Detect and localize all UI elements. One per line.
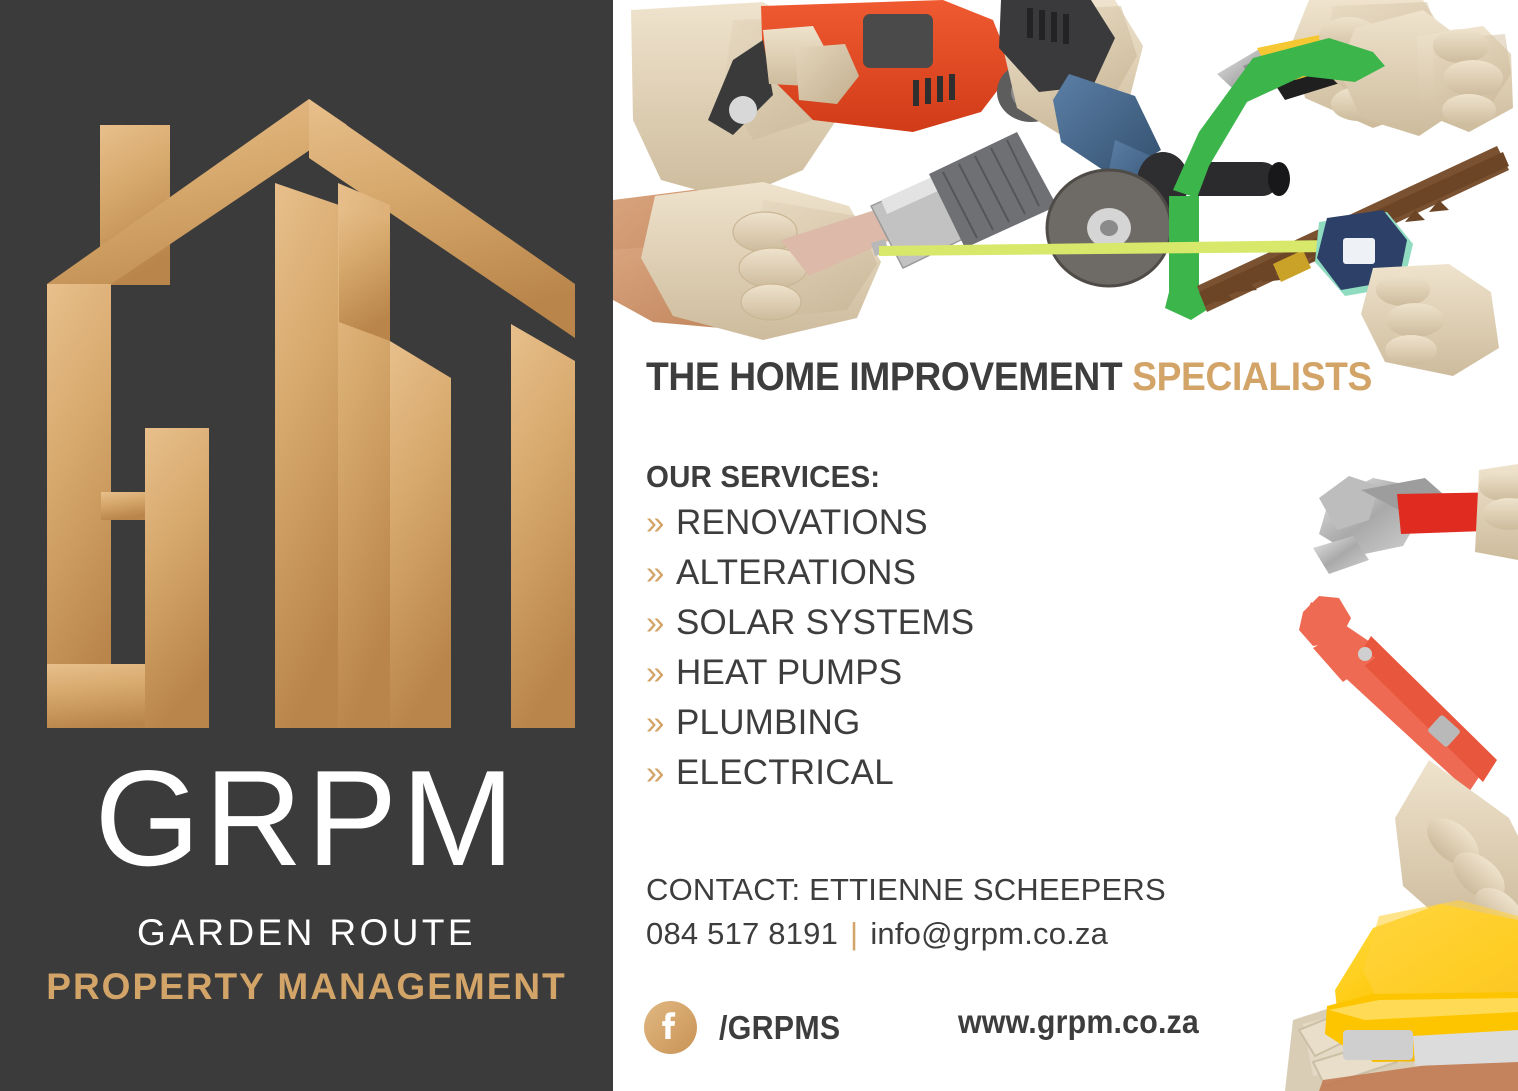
headline-part1: THE HOME IMPROVEMENT [646, 355, 1122, 399]
contact-details: 084 517 8191|info@grpm.co.za [646, 912, 1166, 956]
brand-name: GRPM [0, 750, 613, 886]
gloved-hand-with-tape-measure-photo [871, 210, 1499, 376]
list-item: » ELECTRICAL [646, 755, 974, 805]
website-url[interactable]: www.grpm.co.za [958, 1003, 1199, 1041]
service-label: RENOVATIONS [676, 505, 928, 540]
page-title: THE HOME IMPROVEMENT SPECIALISTS [646, 357, 1372, 397]
content-panel: THE HOME IMPROVEMENT SPECIALISTS OUR SER… [613, 0, 1518, 1091]
brand-tagline-line1: GARDEN ROUTE [0, 914, 613, 951]
list-item: » RENOVATIONS [646, 505, 974, 555]
gloved-hand-with-red-drill-photo [613, 0, 1147, 300]
facebook-icon[interactable] [644, 1001, 697, 1054]
chevron-right-icon: » [646, 506, 676, 539]
contact-phone[interactable]: 084 517 8191 [646, 916, 838, 951]
list-item: » SOLAR SYSTEMS [646, 605, 974, 655]
services-heading: OUR SERVICES: [646, 459, 880, 495]
house-monogram-gr-icon [38, 88, 583, 728]
gloved-hand-with-paintbrush-photo [613, 132, 1057, 340]
service-label: HEAT PUMPS [676, 655, 902, 690]
list-item: » PLUMBING [646, 705, 974, 755]
chevron-right-icon: » [646, 606, 676, 639]
chevron-right-icon: » [646, 756, 676, 789]
list-item: » HEAT PUMPS [646, 655, 974, 705]
services-list: » RENOVATIONS » ALTERATIONS » SOLAR SYST… [646, 505, 974, 805]
facebook-handle[interactable]: /GRPMS [719, 1009, 840, 1047]
service-label: ELECTRICAL [676, 755, 894, 790]
service-label: PLUMBING [676, 705, 860, 740]
brand-panel: GRPM GARDEN ROUTE PROPERTY MANAGEMENT [0, 0, 613, 1091]
gloved-hand-with-bow-saw-photo [1165, 10, 1513, 320]
list-item: » ALTERATIONS [646, 555, 974, 605]
headline-part2: SPECIALISTS [1132, 355, 1372, 399]
gloved-hand-with-angle-grinder-photo [999, 0, 1290, 286]
service-label: ALTERATIONS [676, 555, 916, 590]
chevron-right-icon: » [646, 556, 676, 589]
yellow-hard-hat-on-gloves-photo [1285, 900, 1518, 1091]
service-label: SOLAR SYSTEMS [676, 605, 974, 640]
gloved-hand-with-pipe-wrench-photo [1299, 596, 1518, 941]
brand-tagline-line2: PROPERTY MANAGEMENT [0, 968, 613, 1005]
contact-person: CONTACT: ETTIENNE SCHEEPERS [646, 868, 1166, 912]
contact-block: CONTACT: ETTIENNE SCHEEPERS 084 517 8191… [646, 868, 1166, 956]
footer-social[interactable]: /GRPMS [644, 1001, 851, 1054]
gloved-hand-with-hammer-photo [1313, 464, 1518, 574]
contact-separator: | [838, 916, 870, 951]
chevron-right-icon: » [646, 706, 676, 739]
advertisement-flyer: GRPM GARDEN ROUTE PROPERTY MANAGEMENT [0, 0, 1518, 1091]
chevron-right-icon: » [646, 656, 676, 689]
gloved-hand-with-pliers-photo [1217, 0, 1449, 128]
contact-email[interactable]: info@grpm.co.za [870, 916, 1108, 951]
brand-text-block: GRPM GARDEN ROUTE PROPERTY MANAGEMENT [0, 750, 613, 1005]
